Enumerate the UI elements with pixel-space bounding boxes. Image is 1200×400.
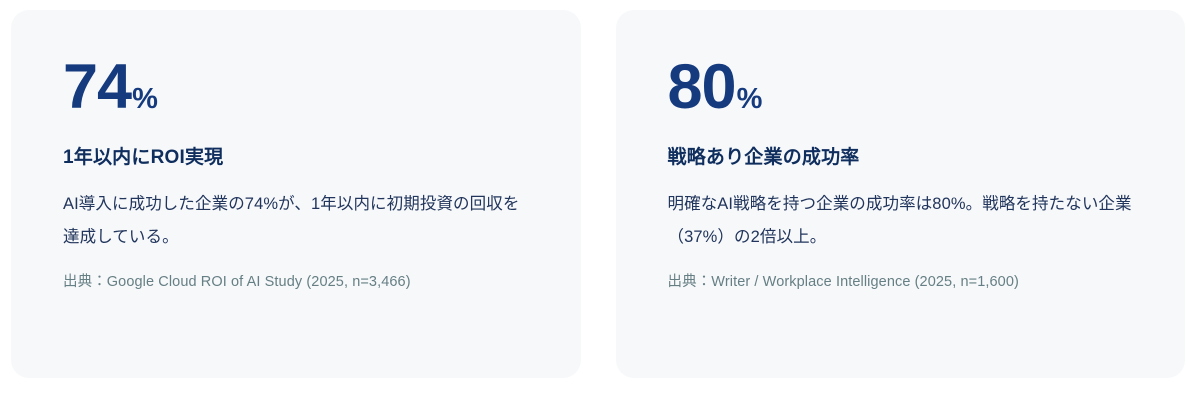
stat-source-citation: 出典：Google Cloud ROI of AI Study (2025, n… (63, 272, 411, 294)
stat-heading: 戦略あり企業の成功率 (668, 145, 860, 172)
stat-unit-percent: % (737, 85, 762, 114)
stat-card-strategy-success: 80 % 戦略あり企業の成功率 明確なAI戦略を持つ企業の成功率は80%。戦略を… (616, 10, 1186, 378)
stat-value: 80 % (668, 56, 762, 119)
stat-description: 明確なAI戦略を持つ企業の成功率は80%。戦略を持たない企業（37%）の2倍以上… (668, 188, 1138, 256)
stat-unit-percent: % (132, 85, 157, 114)
stat-description: AI導入に成功した企業の74%が、1年以内に初期投資の回収を達成している。 (63, 188, 533, 256)
stat-heading: 1年以内にROI実現 (63, 145, 223, 172)
stat-value: 74 % (63, 56, 157, 119)
stat-cards-grid: 74 % 1年以内にROI実現 AI導入に成功した企業の74%が、1年以内に初期… (0, 0, 1200, 400)
stat-number: 74 (63, 56, 131, 119)
stat-card-roi: 74 % 1年以内にROI実現 AI導入に成功した企業の74%が、1年以内に初期… (11, 10, 581, 378)
stat-number: 80 (668, 56, 736, 119)
stat-source-citation: 出典：Writer / Workplace Intelligence (2025… (668, 272, 1019, 294)
